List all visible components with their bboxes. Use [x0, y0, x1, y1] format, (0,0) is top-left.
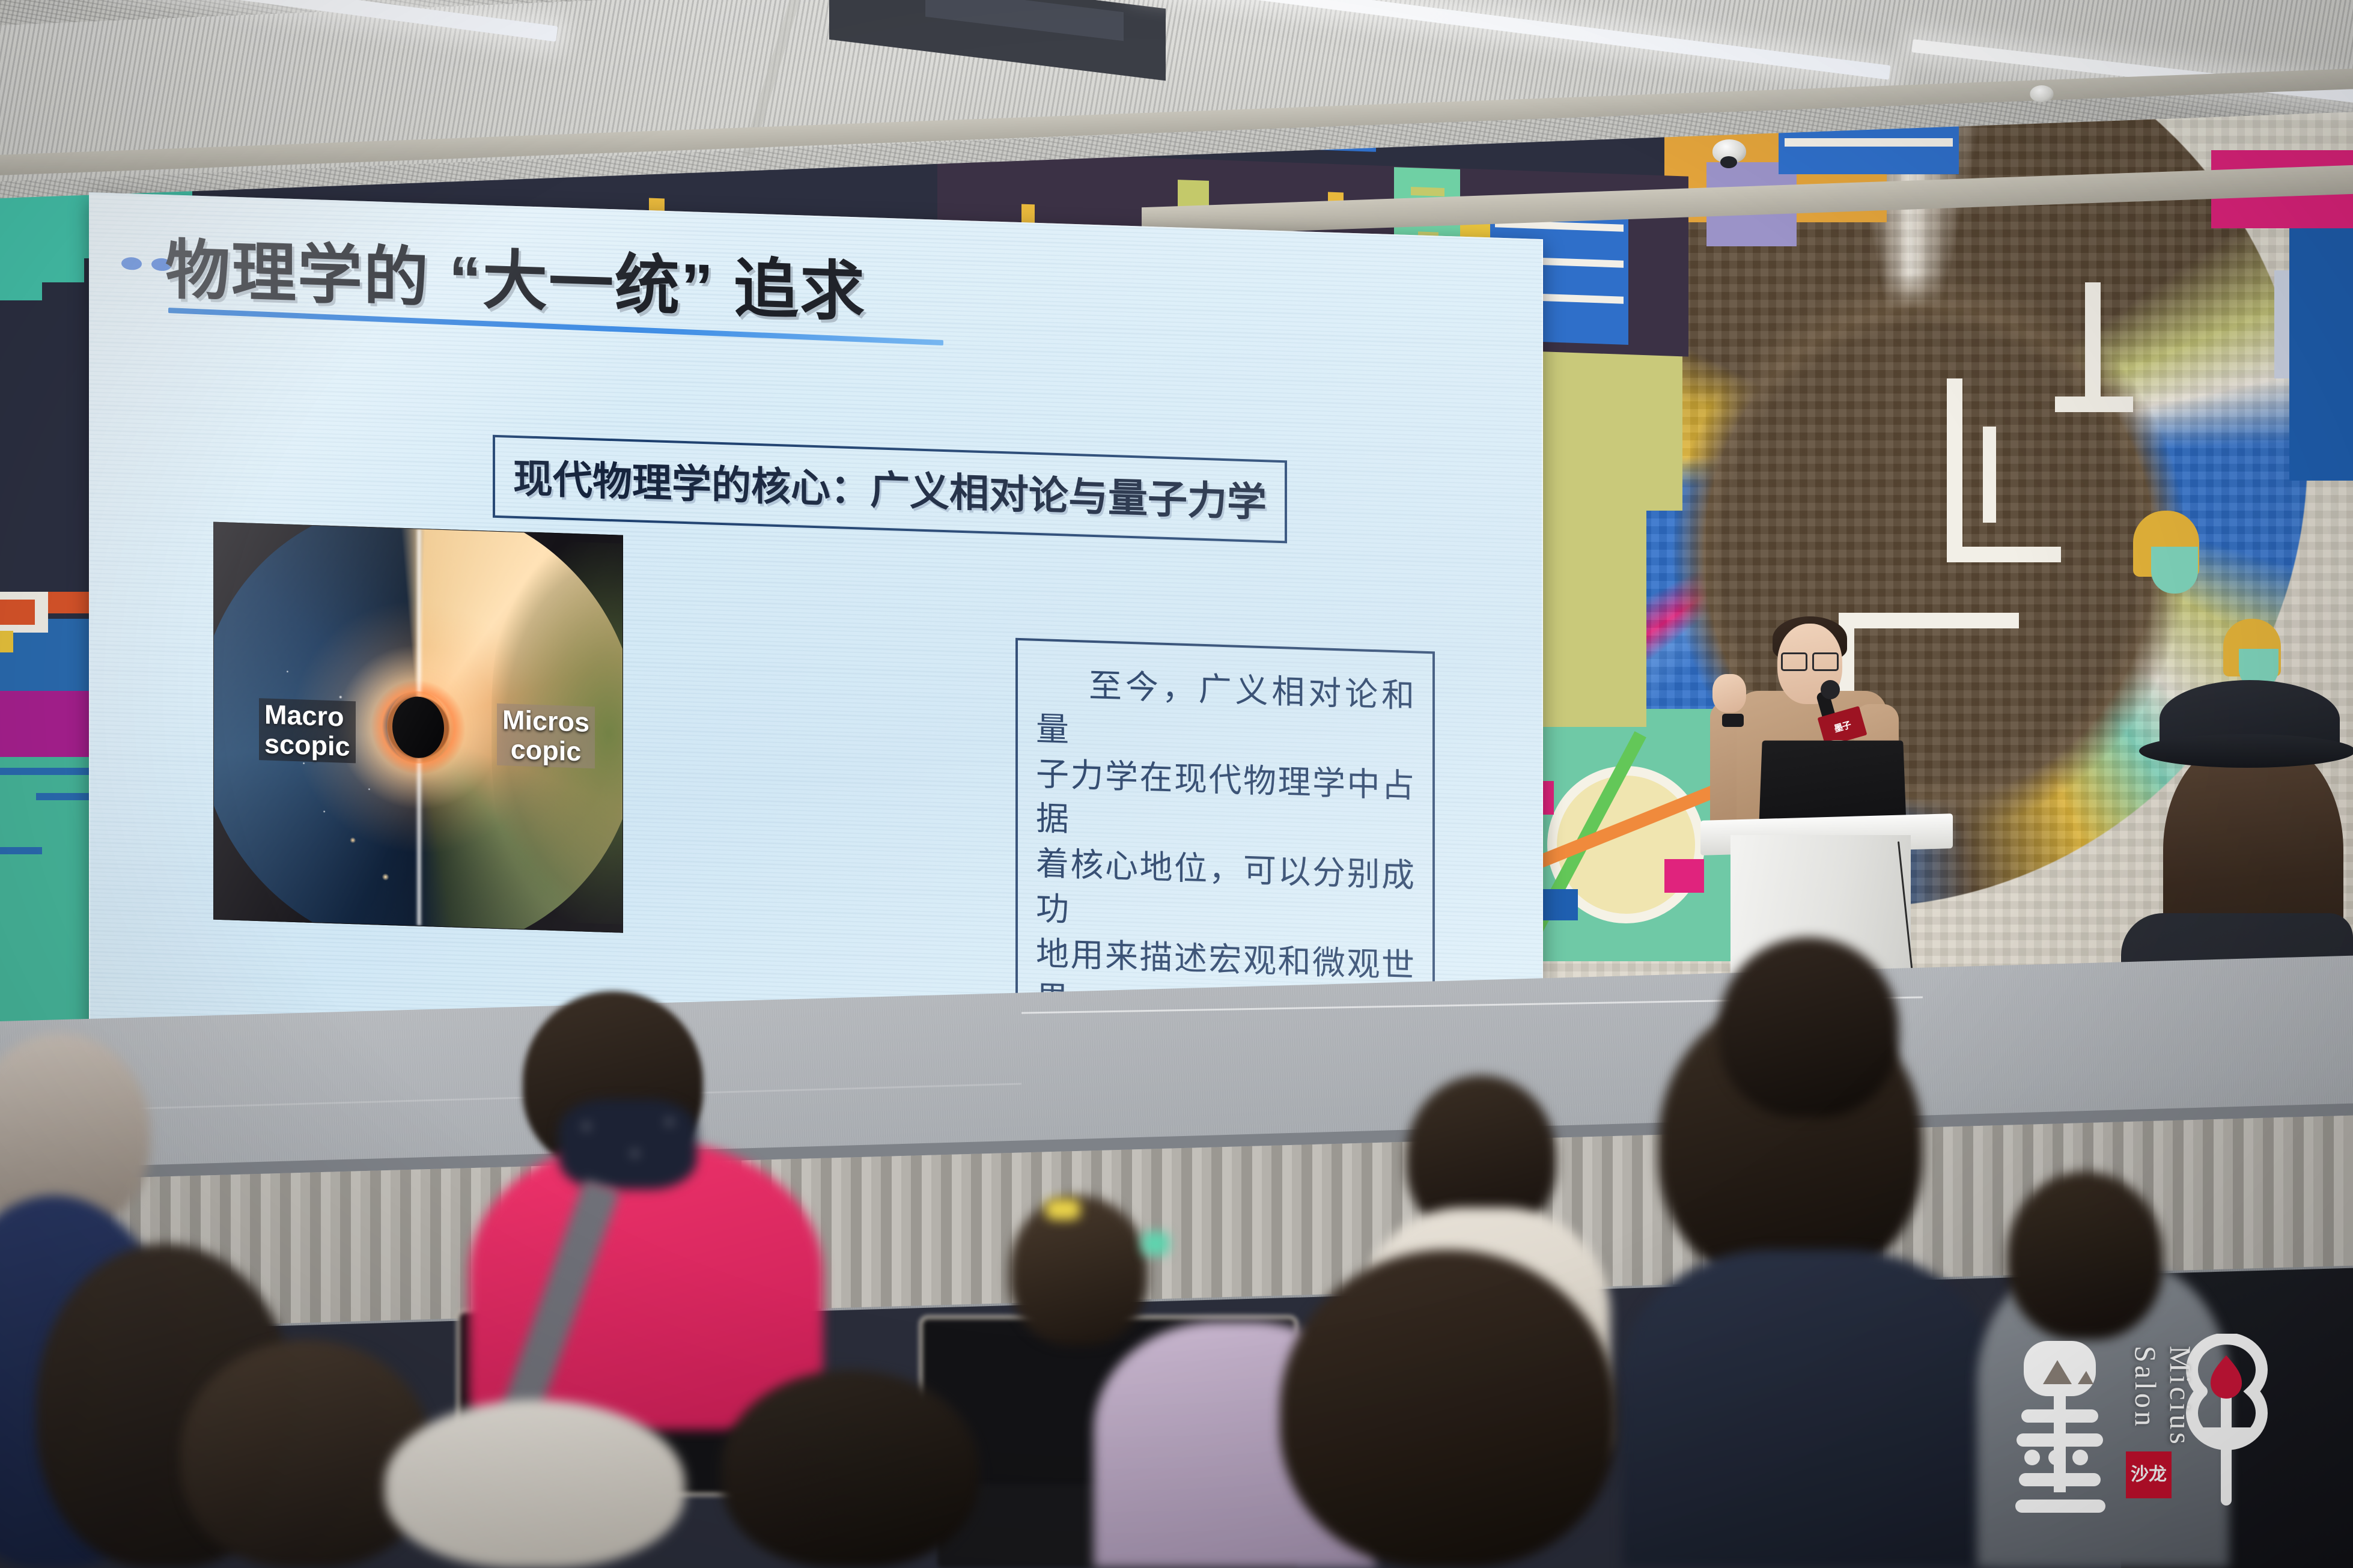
ceiling-sensor-icon — [1712, 139, 1746, 163]
attendee-head — [721, 1370, 979, 1568]
speaker-wristband — [1722, 714, 1744, 727]
attendee-head — [1280, 1250, 1616, 1568]
attendee-head — [385, 1400, 685, 1568]
microphone-head — [1821, 680, 1840, 699]
slide-subtitle-text: 现代物理学的核心：广义相对论与量子力学 — [513, 456, 1267, 525]
quote-line: 至今，广义相对论和量 — [1036, 661, 1414, 764]
attendee-head — [2007, 1171, 2163, 1340]
figure-label-microscopic: Micros copic — [497, 703, 595, 768]
stage-platform — [0, 956, 2353, 1334]
attendee-body — [1622, 1250, 1995, 1568]
quote-line: 着核心地位，可以分别成功 — [1036, 841, 1414, 943]
quote-line: 子力学在现代物理学中占据 — [1036, 751, 1414, 853]
attendee-hairclip — [1046, 1199, 1080, 1220]
screenshot-root: 物理学的 “大一统” 追求 现代物理学的核心：广义相对论与量子力学 Macro … — [0, 0, 2353, 1568]
figure-label-macroscopic: Macro scopic — [259, 698, 356, 763]
speaker-glasses-icon — [1781, 652, 1839, 667]
projection-screen: 物理学的 “大一统” 追求 现代物理学的核心：广义相对论与量子力学 Macro … — [89, 192, 1543, 1080]
watermark: Micius Salon 沙龙 — [2011, 1334, 2269, 1520]
attendee-head — [1009, 1196, 1148, 1346]
ceiling-sensor-icon — [2030, 85, 2053, 102]
watermark-seal: 沙龙 — [2126, 1451, 2172, 1498]
black-hole-figure: Macro scopic Micros copic — [213, 522, 623, 933]
attendee-hairclip — [1142, 1232, 1169, 1256]
speaker-raised-hand — [1712, 674, 1746, 713]
attendee-head — [1718, 937, 1899, 1117]
slide-subtitle-box: 现代物理学的核心：广义相对论与量子力学 — [493, 435, 1287, 544]
attendee-scarf — [559, 1099, 697, 1190]
title-bullet-dots-icon — [121, 257, 172, 272]
